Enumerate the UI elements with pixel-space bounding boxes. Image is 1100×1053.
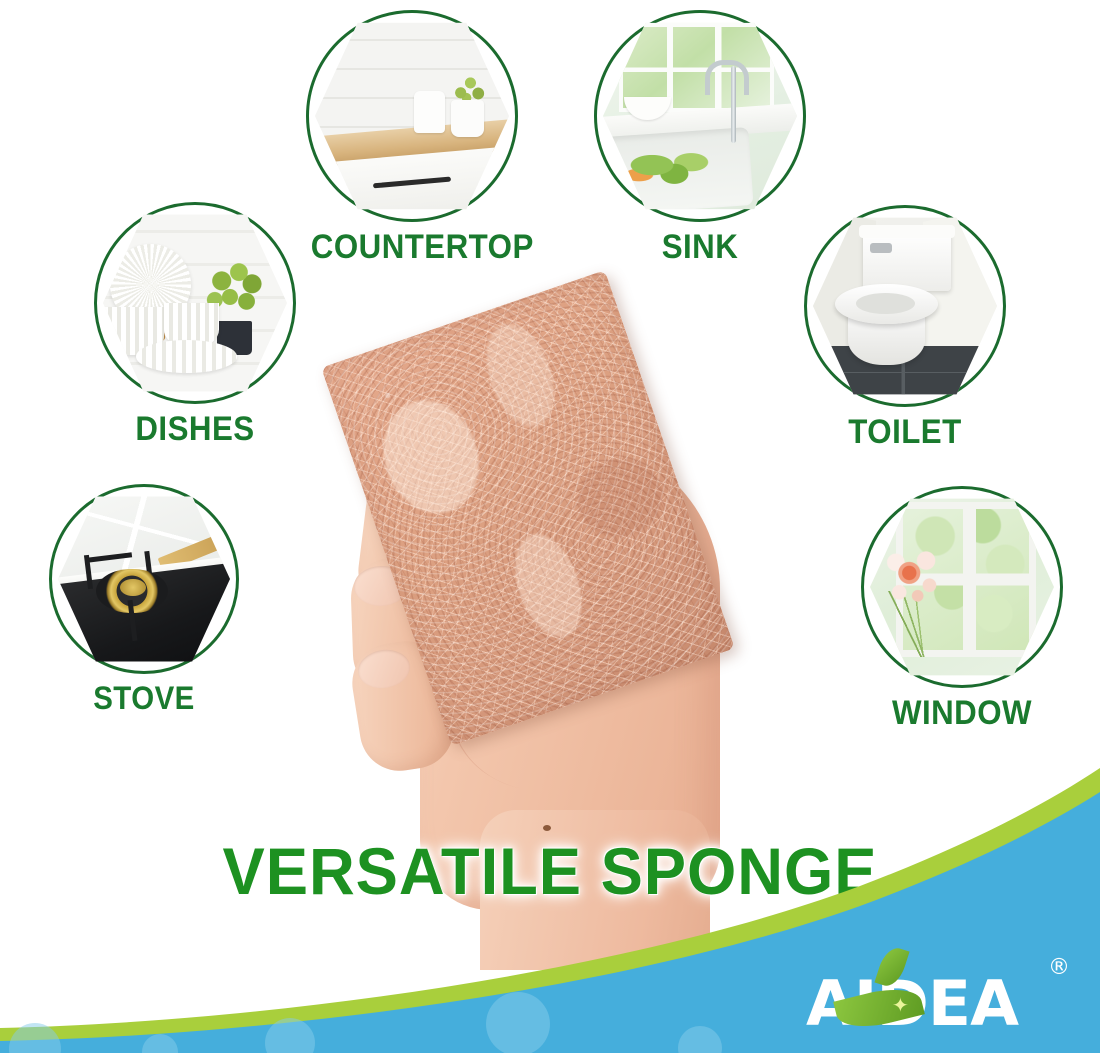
aidea-logo: AIDEA ✦ ® (806, 953, 1074, 1039)
toilet-ring (804, 205, 1006, 407)
stove-ring (49, 484, 239, 674)
leaf-icon-main (833, 981, 925, 1035)
registered-trademark-symbol: ® (1048, 955, 1070, 980)
dishes-ring (94, 202, 296, 404)
feature-window[interactable]: WINDOW (857, 486, 1067, 752)
banner-bubbles (9, 992, 722, 1053)
feature-label-countertop: COUNTERTOP (311, 228, 513, 267)
sparkle-icon: ✦ (892, 996, 909, 1016)
window-ring (861, 486, 1063, 688)
feature-label-toilet: TOILET (808, 413, 1001, 452)
feature-sink[interactable]: SINK (592, 10, 808, 285)
feature-label-sink: SINK (601, 228, 800, 267)
window-photo (870, 495, 1054, 679)
feature-dishes[interactable]: DISHES (92, 202, 298, 472)
feature-label-stove: STOVE (54, 680, 234, 717)
feature-label-dishes: DISHES (100, 410, 290, 449)
feature-label-window: WINDOW (865, 694, 1058, 733)
feature-toilet[interactable]: TOILET (800, 205, 1010, 473)
sink-ring (594, 10, 806, 222)
feature-countertop[interactable]: COUNTERTOP (302, 10, 522, 285)
toilet-photo (813, 214, 997, 398)
leaf-icon-top (874, 944, 909, 989)
feature-stove[interactable]: STOVE (46, 484, 242, 746)
skin-mark (543, 825, 551, 831)
dishes-photo (103, 211, 287, 395)
product-marketing-image: COUNTERTOP SINK DISHES (0, 0, 1100, 1053)
countertop-photo (315, 19, 509, 213)
sink-photo (603, 19, 797, 213)
stove-photo (58, 493, 230, 665)
page-title: VERSATILE SPONGE (22, 833, 1078, 909)
aidea-wordmark: AIDEA (806, 973, 1079, 1035)
countertop-ring (306, 10, 518, 222)
